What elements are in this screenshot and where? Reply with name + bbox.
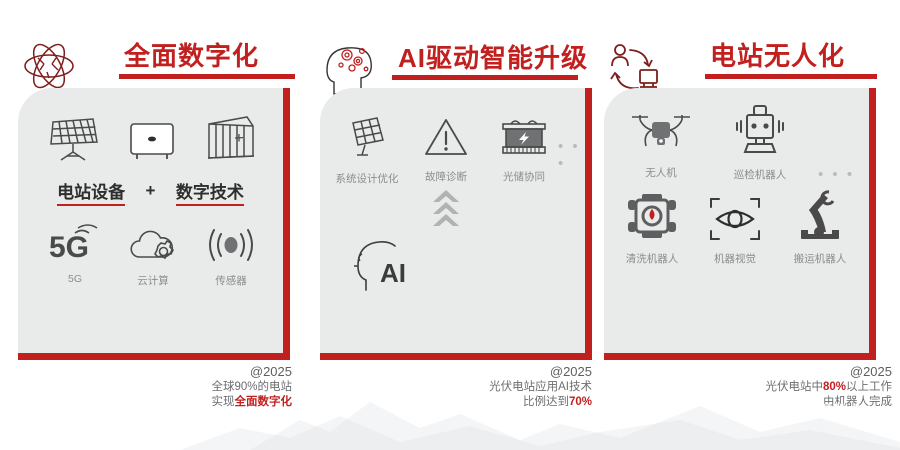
panel-2-footer: @2025 光伏电站应用AI技术 比例达到70% — [378, 364, 592, 411]
ai-head-icon: AI — [344, 230, 424, 297]
cloud-computing-icon — [120, 226, 186, 269]
solar-design-icon — [328, 114, 406, 167]
icon-cell-inverter-box — [119, 120, 185, 171]
icon-cell-sensor: 传感器 — [198, 226, 264, 288]
panel-1-title: 全面数字化 — [124, 36, 259, 73]
footer-line-1: 光伏电站中80%以上工作 — [660, 380, 892, 396]
icon-label: 系统设计优化 — [328, 171, 406, 186]
footer-line-2-highlight: 70% — [569, 396, 592, 408]
5g-icon: 5G — [42, 224, 108, 269]
panel-2-title: AI驱动智能升级 — [398, 38, 588, 75]
icon-cell-machine-vision: 机器视觉 — [698, 196, 772, 266]
icon-cell-5g: 5G 5G — [42, 224, 108, 285]
panel-3-ellipsis: • • • — [818, 166, 855, 183]
equation-row: 电站设备 + 数字技术 — [18, 178, 283, 206]
footer-line-1: 光伏电站应用AI技术 — [378, 380, 592, 396]
footer-line-2: 实现全面数字化 — [80, 395, 292, 411]
icon-cell-upgrade-chevrons — [418, 188, 474, 239]
icon-cell-fault-warning: 故障诊断 — [410, 116, 482, 184]
icon-cell-cleaning-robot: 清洗机器人 — [610, 192, 694, 266]
icon-cell-container-station — [198, 114, 264, 173]
panel-1-title-underline — [119, 74, 295, 79]
transport-robot-arm-icon — [776, 188, 864, 247]
footer-year: @2025 — [378, 364, 592, 380]
svg-text:AI: AI — [380, 258, 406, 288]
panel-3-title: 电站无人化 — [710, 36, 845, 73]
watermark-blob-small — [736, 400, 750, 411]
equation-left-term: 电站设备 — [57, 178, 125, 206]
icon-label: 云计算 — [120, 273, 186, 288]
equation-right-term: 数字技术 — [176, 178, 244, 206]
footer-year: @2025 — [80, 364, 292, 380]
icon-label: 搬运机器人 — [776, 251, 864, 266]
panel-2-title-underline — [392, 75, 578, 80]
sensor-icon — [198, 226, 264, 269]
icon-label: 机器视觉 — [698, 251, 772, 266]
icon-label: 光储协同 — [486, 169, 562, 184]
inspection-robot-icon — [712, 104, 808, 163]
inverter-box-icon — [119, 120, 185, 167]
icon-label: 5G — [42, 273, 108, 285]
infographic-canvas: 全面数字化 — [0, 0, 900, 450]
machine-vision-icon — [698, 196, 772, 247]
battery-storage-icon — [486, 116, 562, 165]
panel-ai-driven-upgrade: 系统设计优化 故障诊断 — [320, 88, 592, 360]
footer-year: @2025 — [660, 364, 892, 380]
icon-cell-transport-robot-arm: 搬运机器人 — [776, 188, 864, 266]
footer-line-2-prefix: 比例达到 — [523, 396, 569, 408]
panel-unmanned-station: 无人机 巡检机器人 • • • — [604, 88, 876, 360]
icon-label: 清洗机器人 — [610, 251, 694, 266]
footer-line-2: 比例达到70% — [378, 395, 592, 411]
icon-cell-battery-storage: 光储协同 — [486, 116, 562, 184]
watermark-blob — [748, 396, 778, 416]
watermark-text: 无人驾驶技术 — [778, 400, 862, 419]
icon-label: 传感器 — [198, 273, 264, 288]
panel-1-footer: @2025 全球90%的电站 实现全面数字化 — [80, 364, 292, 411]
icon-label: 无人机 — [618, 165, 704, 180]
panel-full-digitalization: 电站设备 + 数字技术 5G 5G — [18, 88, 290, 360]
footer-line-1-suffix: 以上工作 — [846, 381, 892, 393]
footer-line-1: 全球90%的电站 — [80, 380, 292, 396]
drone-icon — [618, 108, 704, 161]
panel-3-title-underline — [705, 74, 877, 79]
icon-cell-solar-panel — [40, 116, 106, 173]
icon-cell-solar-design: 系统设计优化 — [328, 114, 406, 186]
icon-cell-inspection-robot: 巡检机器人 — [712, 104, 808, 182]
icon-cell-ai-head: AI — [344, 230, 424, 301]
icon-label: 故障诊断 — [410, 169, 482, 184]
fault-warning-icon — [410, 116, 482, 165]
icon-cell-drone: 无人机 — [618, 108, 704, 180]
icon-label: 巡检机器人 — [712, 167, 808, 182]
panel-2-ellipsis: • • • — [558, 138, 585, 172]
footer-line-1-highlight: 80% — [823, 381, 846, 393]
footer-line-1-prefix: 光伏电站中 — [765, 381, 823, 393]
cleaning-robot-icon — [610, 192, 694, 247]
footer-line-2-prefix: 实现 — [212, 396, 235, 408]
equation-operator: + — [146, 181, 156, 201]
upgrade-chevrons-icon — [418, 188, 474, 235]
solar-panel-icon — [40, 116, 106, 169]
icon-cell-cloud-computing: 云计算 — [120, 226, 186, 288]
footer-line-2-highlight: 全面数字化 — [235, 396, 293, 408]
svg-text:5G: 5G — [49, 231, 89, 264]
container-station-icon — [198, 114, 264, 169]
